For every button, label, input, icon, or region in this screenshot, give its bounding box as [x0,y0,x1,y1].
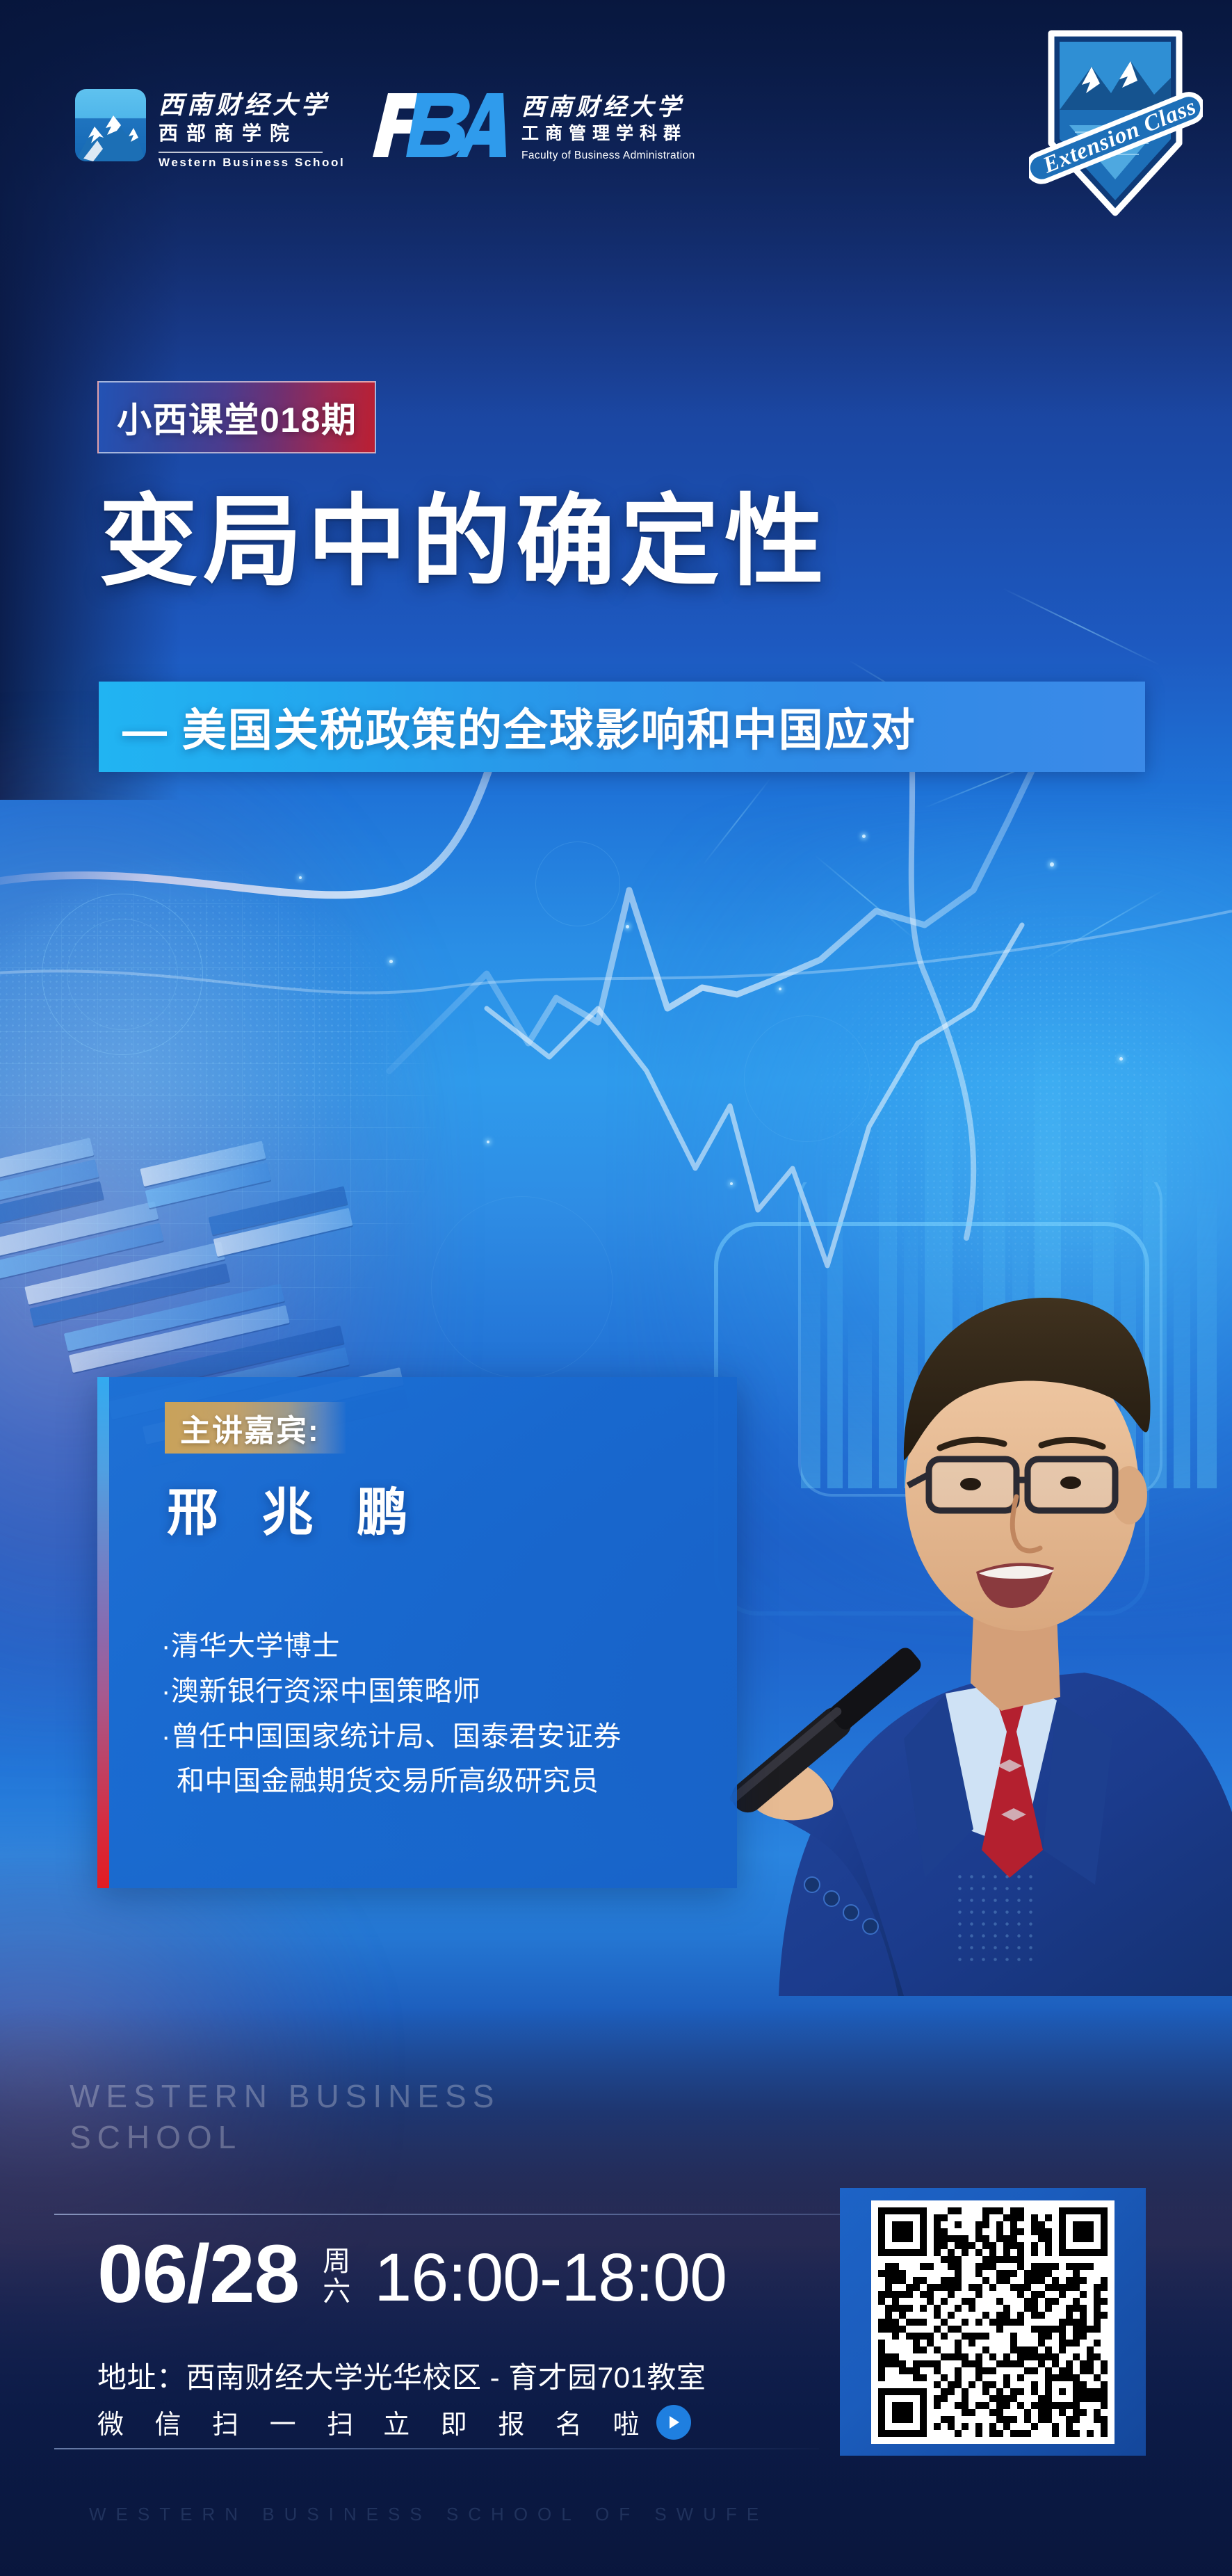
event-datetime: 06/28 周 六 16:00-18:00 [97,2236,727,2313]
logo-fba: 西南财经大学 工商管理学科群 Faculty of Business Admin… [367,90,695,162]
qr-code-icon[interactable] [878,2207,1108,2437]
wbs-divider [159,152,323,153]
wbs-cn-line2: 西部商学院 [159,119,345,148]
cta-signup-label: 立 即 报 名 啦 [365,2403,651,2441]
poster-root: 西南财经大学 西部商学院 Western Business School 西南财… [0,0,1232,2576]
header-logos: 西南财经大学 西部商学院 Western Business School 西南财… [0,0,1232,236]
speaker-bio: ·清华大学博士 ·澳新银行资深中国策略师 ·曾任中国国家统计局、国泰君安证券 和… [161,1624,718,1804]
bio-line-2: ·澳新银行资深中国策略师 [161,1669,718,1714]
fba-wordmark-icon [367,90,506,160]
mountain-logo-icon [75,89,146,161]
qr-code-frame[interactable] [840,2188,1146,2456]
weekday-char-2: 六 [323,2277,350,2306]
episode-badge-label: 小西课堂018期 [117,392,357,442]
speaker-label-text: 主讲嘉宾: [165,1406,320,1450]
cta-scan-label: 微 信 扫 一 扫 [97,2403,365,2441]
bio-line-3: ·曾任中国国家统计局、国泰君安证券 [161,1714,718,1760]
fba-cn-line1: 西南财经大学 [521,95,695,120]
watermark-line-2: SCHOOL [70,2117,501,2158]
speaker-accent-bar [97,1377,109,1888]
footer-faint-text: WESTERN BUSINESS SCHOOL OF SWUFE [89,2504,768,2525]
qr-code-inner [871,2200,1115,2444]
dot-matrix-decoration [954,1871,1037,1961]
subtitle-text: — 美国关税政策的全球影响和中国应对 [99,695,916,759]
wbs-cn-line1: 西南财经大学 [159,92,345,119]
logo-western-business-school: 西南财经大学 西部商学院 Western Business School [75,89,345,170]
logo-extension-class: 小 西 课 堂 Extension Class [1029,21,1203,223]
event-date: 06/28 [97,2236,299,2313]
speaker-panel: 主讲嘉宾: 邢 兆 鹏 ·清华大学博士 ·澳新银行资深中国策略师 ·曾任中国国家… [97,1377,737,1888]
bio-line-1: ·清华大学博士 [161,1624,718,1669]
fba-en-name: Faculty of Business Administration [521,150,695,162]
cta-row[interactable]: 微 信 扫 一 扫 立 即 报 名 啦 [97,2403,691,2441]
bio-line-4: 和中国金融期货交易所高级研究员 [161,1759,718,1804]
shield-mountain-icon: 小 西 课 堂 Extension Class [1029,21,1203,223]
watermark-line-1: WESTERN BUSINESS [70,2076,501,2117]
event-weekday: 周 六 [323,2247,350,2313]
watermark-text: WESTERN BUSINESS SCHOOL [70,2076,501,2158]
fba-cn-line2: 工商管理学科群 [521,120,695,147]
event-time: 16:00-18:00 [374,2244,727,2313]
wbs-en-name: Western Business School [159,156,345,170]
weekday-char-1: 周 [323,2247,350,2276]
speaker-name: 邢 兆 鹏 [167,1471,423,1545]
footer-divider-bottom [54,2448,819,2449]
event-address: 地址：西南财经大学光华校区 - 育才园701教室 [97,2354,706,2397]
episode-badge: 小西课堂018期 [97,381,376,453]
play-arrow-icon[interactable] [656,2405,691,2440]
page-title: 变局中的确定性 [99,487,1183,598]
subtitle-bar: — 美国关税政策的全球影响和中国应对 [99,682,1145,772]
speaker-label-chip: 主讲嘉宾: [165,1402,346,1454]
